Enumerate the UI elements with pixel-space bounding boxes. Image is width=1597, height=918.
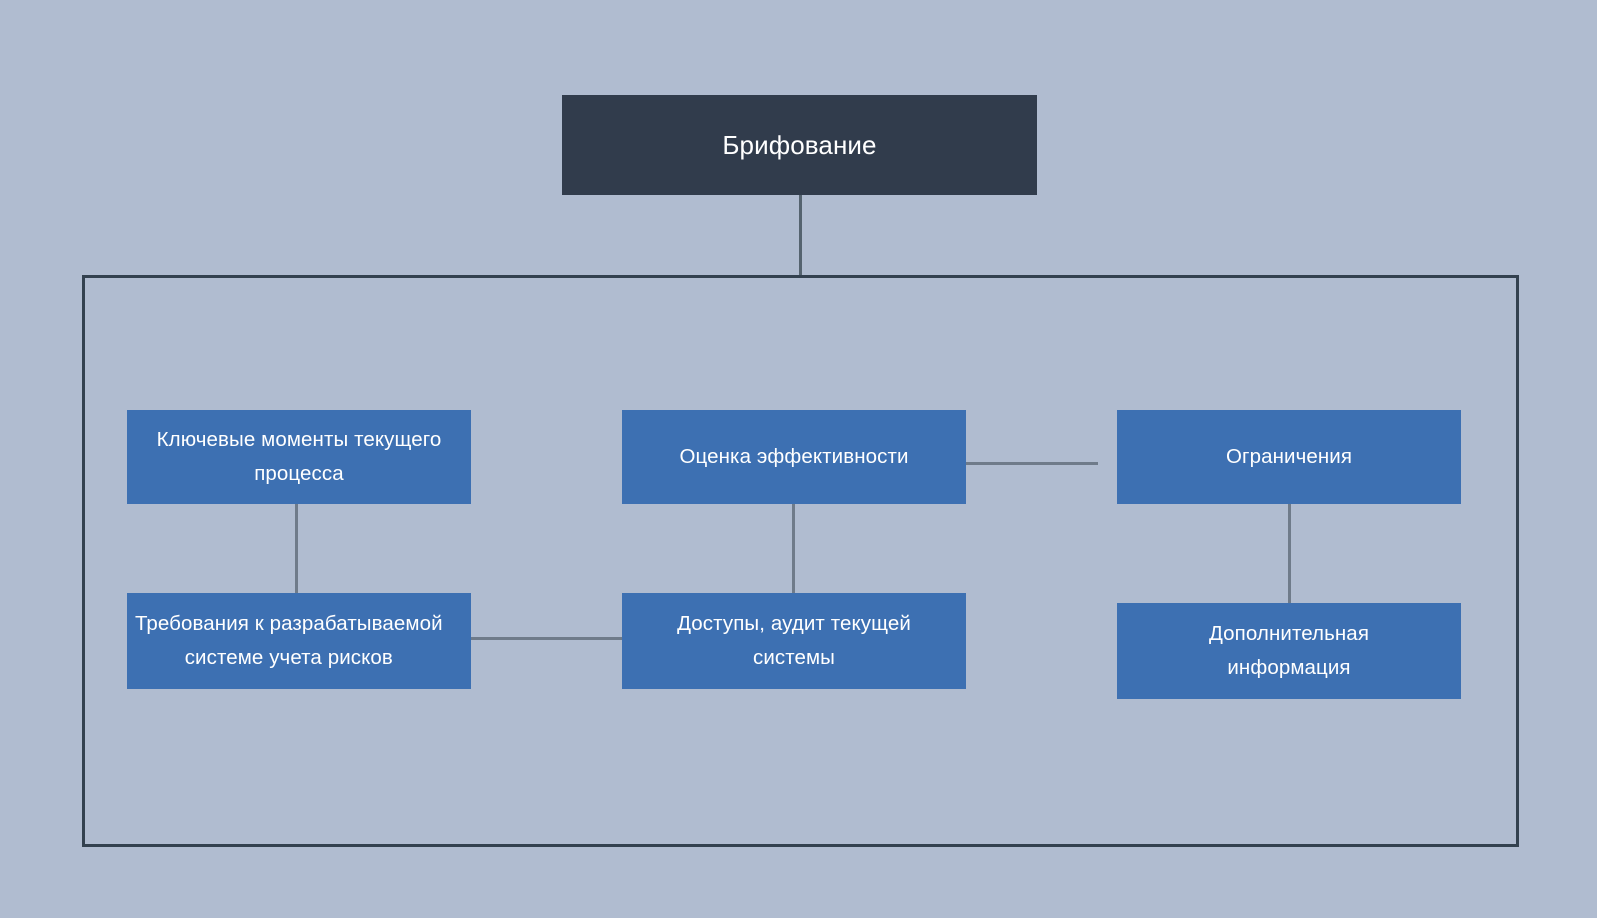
node-access-audit-label: Доступы, аудит текущей системы: [624, 607, 964, 675]
node-effectiveness-label: Оценка эффективности: [624, 440, 964, 474]
node-limitations[interactable]: Ограничения: [1117, 410, 1461, 504]
connector-limitations-to-additional-info: [1288, 502, 1291, 604]
connector-key-moments-to-requirements: [295, 502, 298, 594]
node-key-moments-label: Ключевые моменты текущего процесса: [129, 423, 469, 491]
connector-effectiveness-to-limitations: [948, 462, 1098, 465]
connector-title-to-group: [799, 194, 802, 278]
node-key-moments[interactable]: Ключевые моменты текущего процесса: [127, 410, 471, 504]
node-requirements-label: Требования к разрабатываемой системе уче…: [109, 607, 469, 675]
node-briefing[interactable]: Брифование: [562, 95, 1037, 195]
node-limitations-label: Ограничения: [1119, 440, 1459, 474]
connector-effectiveness-to-access-audit: [792, 502, 795, 594]
connector-requirements-to-access-audit: [470, 637, 622, 640]
node-requirements[interactable]: Требования к разрабатываемой системе уче…: [127, 593, 471, 689]
node-access-audit[interactable]: Доступы, аудит текущей системы: [622, 593, 966, 689]
node-additional-info[interactable]: Дополнительная информация: [1117, 603, 1461, 699]
node-effectiveness[interactable]: Оценка эффективности: [622, 410, 966, 504]
diagram-canvas: Брифование Ключевые моменты текущего про…: [0, 0, 1597, 918]
node-additional-info-label: Дополнительная информация: [1119, 617, 1459, 685]
node-briefing-label: Брифование: [564, 128, 1035, 162]
